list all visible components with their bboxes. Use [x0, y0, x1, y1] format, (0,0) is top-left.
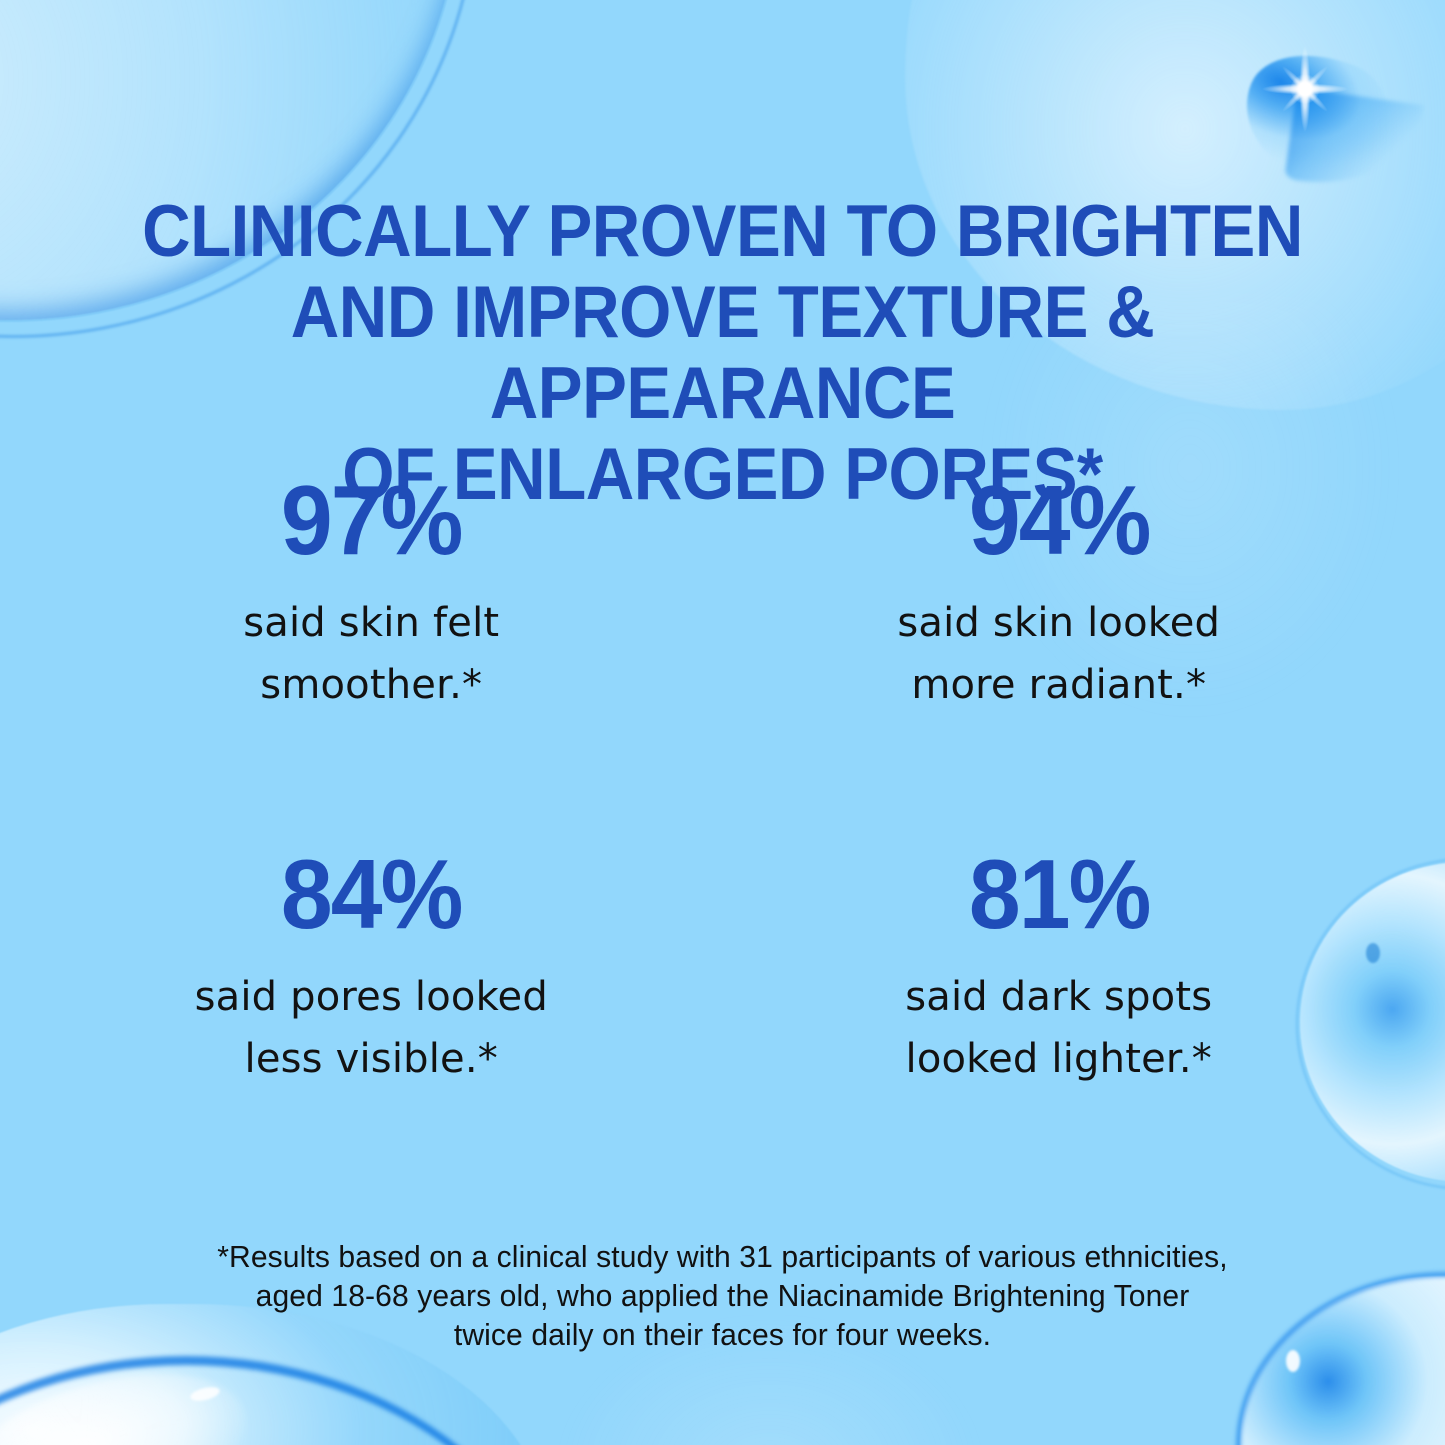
stat-caption: said dark spots looked lighter.* [783, 966, 1336, 1090]
stat-value: 97% [123, 470, 619, 570]
stat-value: 84% [123, 844, 619, 944]
content-area: CLINICALLY PROVEN TO BRIGHTEN AND IMPROV… [0, 0, 1445, 1445]
promo-graphic: CLINICALLY PROVEN TO BRIGHTEN AND IMPROV… [0, 0, 1445, 1445]
stat-caption: said skin looked more radiant.* [783, 592, 1336, 716]
stat-card-radiant: 94% said skin looked more radiant.* [723, 470, 1336, 716]
stat-value: 81% [796, 844, 1321, 944]
stat-caption: said skin felt smoother.* [110, 592, 633, 716]
stats-grid: 97% said skin felt smoother.* 94% said s… [110, 470, 1335, 1090]
stat-card-pores: 84% said pores looked less visible.* [110, 844, 723, 1090]
headline: CLINICALLY PROVEN TO BRIGHTEN AND IMPROV… [58, 191, 1387, 515]
stat-caption: said pores looked less visible.* [110, 966, 633, 1090]
footnote-disclaimer: *Results based on a clinical study with … [22, 1237, 1424, 1354]
stat-value: 94% [796, 470, 1321, 570]
stat-card-dark-spots: 81% said dark spots looked lighter.* [723, 844, 1336, 1090]
stat-card-smoother: 97% said skin felt smoother.* [110, 470, 723, 716]
